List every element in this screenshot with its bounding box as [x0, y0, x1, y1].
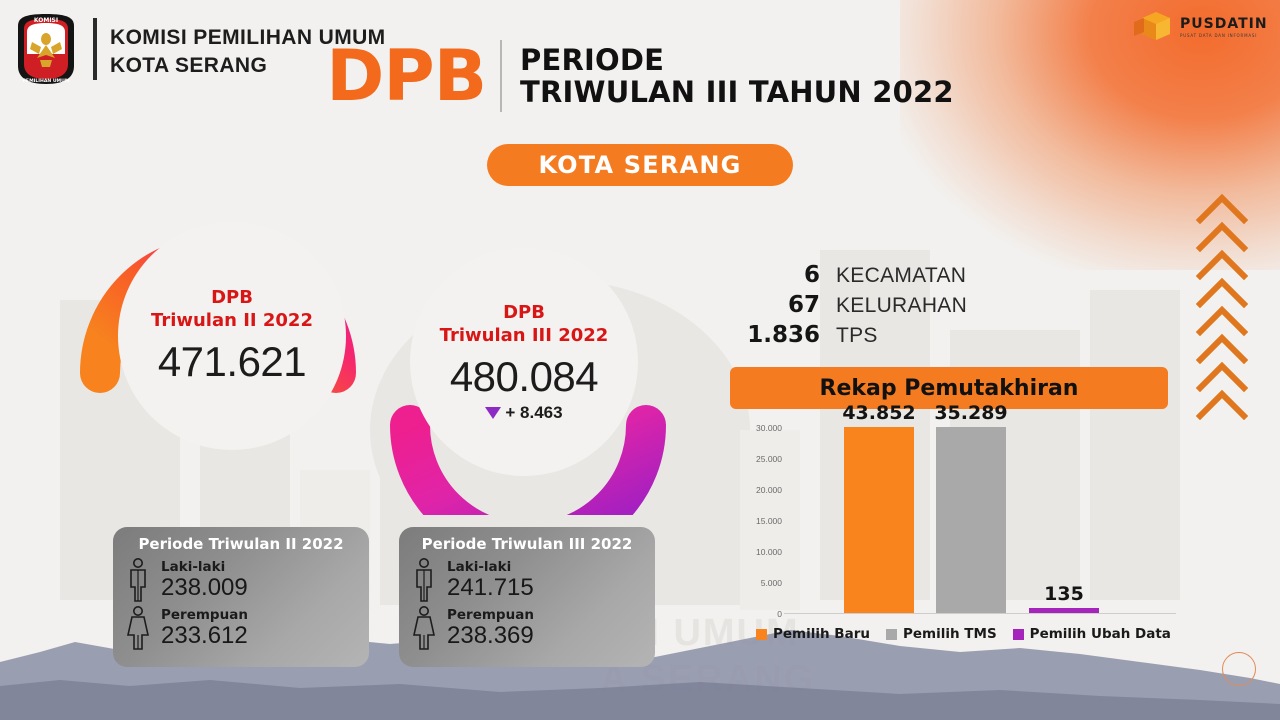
chart-baseline [784, 613, 1176, 614]
y-axis-tick: 20.000 [756, 485, 782, 495]
y-axis-tick: 15.000 [756, 516, 782, 526]
chart-bar [844, 427, 914, 613]
chart-bar-label: 35.289 [911, 402, 1031, 424]
stat-row-tps: 1.836 TPS [740, 322, 1070, 348]
gender-label: Laki-laki [161, 560, 248, 574]
legend-swatch-icon [886, 629, 897, 640]
dpb-current-bubble: DPB Triwulan III 2022 480.084 + 8.463 [410, 248, 638, 476]
title-period-line1: PERIODE [520, 44, 954, 76]
legend-label: Pemilih Baru [773, 626, 870, 642]
legend-swatch-icon [1013, 629, 1024, 640]
gender-row-male: Laki-laki 241.715 [411, 557, 643, 603]
gender-row-female: Perempuan 233.612 [125, 605, 357, 651]
stat-count: 67 [740, 292, 820, 318]
svg-text:PUSAT DATA DAN INFORMASI: PUSAT DATA DAN INFORMASI [1180, 33, 1257, 38]
title-dpb: DPB [326, 43, 486, 110]
previous-label: DPB Triwulan II 2022 [151, 286, 313, 332]
chart-y-axis: 05.00010.00015.00020.00025.00030.000 [726, 428, 782, 614]
gender-row-female: Perempuan 238.369 [411, 605, 643, 651]
chart-bar-label: 135 [1029, 583, 1099, 605]
legend-label: Pemilih Ubah Data [1030, 626, 1171, 642]
gender-value: 238.369 [447, 623, 534, 648]
stat-count: 1.836 [740, 322, 820, 348]
chevron-arrows [1190, 190, 1254, 420]
y-axis-tick: 10.000 [756, 547, 782, 557]
gender-card-title: Periode Triwulan II 2022 [125, 535, 357, 553]
title-period-line2: TRIWULAN III TAHUN 2022 [520, 76, 954, 108]
gender-label: Laki-laki [447, 560, 534, 574]
current-label: DPB Triwulan III 2022 [440, 301, 609, 347]
stat-count: 6 [740, 262, 820, 288]
chart-legend: Pemilih BaruPemilih TMSPemilih Ubah Data [756, 626, 1171, 642]
stat-row-kelurahan: 67 KELURAHAN [740, 292, 1070, 318]
stat-label: KECAMATAN [836, 264, 966, 288]
chart-bar [1029, 608, 1099, 613]
gender-card-current: Periode Triwulan III 2022 Laki-laki 241.… [399, 527, 655, 667]
stat-label: KELURAHAN [836, 294, 967, 318]
decorative-circle [1222, 652, 1256, 686]
gender-value: 241.715 [447, 575, 534, 600]
triangle-down-icon [485, 407, 501, 419]
legend-label: Pemilih TMS [903, 626, 997, 642]
delta-value: + 8.463 [505, 403, 562, 423]
rekap-bar-chart: 05.00010.00015.00020.00025.00030.000 43.… [726, 428, 1176, 638]
y-axis-tick: 0 [777, 609, 782, 619]
y-axis-tick: 30.000 [756, 423, 782, 433]
infographic-canvas: IHAN UMUM A SERANG [0, 0, 1280, 720]
legend-item: Pemilih Ubah Data [1013, 626, 1171, 642]
dpb-previous-bubble: DPB Triwulan II 2022 471.621 [118, 222, 346, 450]
legend-item: Pemilih TMS [886, 626, 997, 642]
region-stats: 6 KECAMATAN 67 KELURAHAN 1.836 TPS [740, 262, 1070, 352]
chart-plot-area: 43.85235.289135 [784, 428, 1176, 614]
previous-value: 471.621 [158, 338, 306, 386]
svg-text:PUSDATIN: PUSDATIN [1180, 16, 1266, 32]
y-axis-tick: 5.000 [761, 578, 782, 588]
y-axis-tick: 25.000 [756, 454, 782, 464]
female-icon [125, 605, 151, 651]
delta-indicator: + 8.463 [485, 403, 562, 423]
male-icon [411, 557, 437, 603]
legend-item: Pemilih Baru [756, 626, 870, 642]
title-block: DPB PERIODE TRIWULAN III TAHUN 2022 [0, 40, 1280, 112]
stat-row-kecamatan: 6 KECAMATAN [740, 262, 1070, 288]
gender-value: 238.009 [161, 575, 248, 600]
svg-text:KOMISI: KOMISI [34, 17, 58, 24]
legend-swatch-icon [756, 629, 767, 640]
female-icon [411, 605, 437, 651]
gender-label: Perempuan [161, 608, 248, 622]
chart-bar [936, 427, 1006, 613]
gender-row-male: Laki-laki 238.009 [125, 557, 357, 603]
male-icon [125, 557, 151, 603]
stat-label: TPS [836, 324, 878, 348]
gender-card-title: Periode Triwulan III 2022 [411, 535, 643, 553]
title-divider [500, 40, 502, 112]
gender-label: Perempuan [447, 608, 534, 622]
current-value: 480.084 [450, 353, 598, 401]
gender-value: 233.612 [161, 623, 248, 648]
gender-card-previous: Periode Triwulan II 2022 Laki-laki 238.0… [113, 527, 369, 667]
